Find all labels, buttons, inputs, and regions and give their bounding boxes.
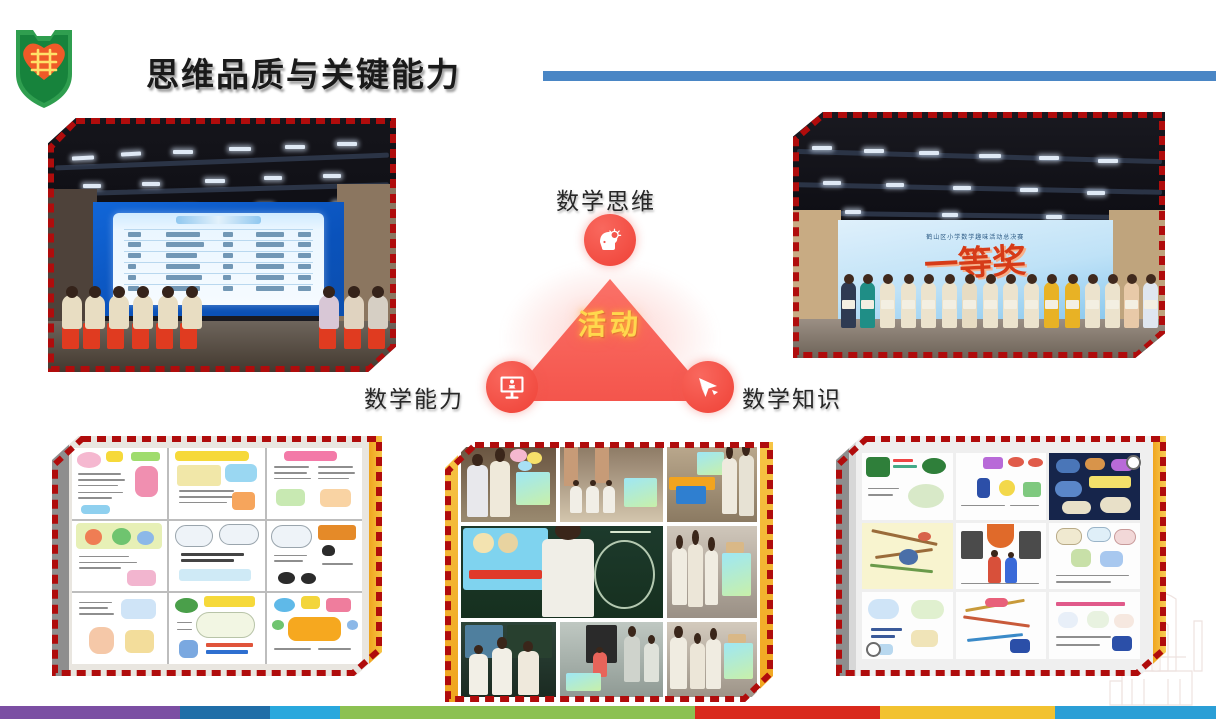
photo-math-newspapers [52, 436, 382, 676]
label-math-ability: 数学能力 [364, 380, 464, 414]
colorbar-segment-dark-blue [180, 706, 270, 719]
school-crest-logo [10, 26, 78, 112]
colorbar-segment-blue [1055, 706, 1216, 719]
label-math-thinking: 数学思维 [556, 182, 656, 216]
node-math-knowledge[interactable] [682, 361, 734, 413]
rocket-launch-icon [693, 372, 723, 402]
photo-activity-collage [445, 442, 773, 702]
colorbar-segment-cyan [270, 706, 340, 719]
title-accent-rule [543, 71, 1216, 81]
colorbar-segment-green [340, 706, 695, 719]
node-math-thinking[interactable] [584, 214, 636, 266]
page-title: 思维品质与关键能力 [146, 48, 461, 96]
slide-canvas: 思维品质与关键能力 [0, 0, 1216, 719]
photo-competition-hall [48, 118, 396, 372]
label-math-knowledge: 数学知识 [742, 380, 842, 414]
newspaper-grid [72, 448, 362, 664]
photo-mind-maps [836, 436, 1166, 676]
colorbar-segment-red [695, 706, 880, 719]
head-lightbulb-icon [595, 225, 625, 255]
bottom-color-bar [0, 706, 1216, 719]
colorbar-segment-purple [0, 706, 180, 719]
node-math-ability[interactable] [486, 361, 538, 413]
triangle-center-label: 活动 [430, 303, 790, 343]
photo-award-ceremony: 鹤山区小学数学趣味活动总决赛 一等奖 [793, 112, 1165, 358]
presentation-podium-icon [497, 372, 527, 402]
mindmap-grid [862, 453, 1139, 659]
colorbar-segment-gold [880, 706, 1055, 719]
